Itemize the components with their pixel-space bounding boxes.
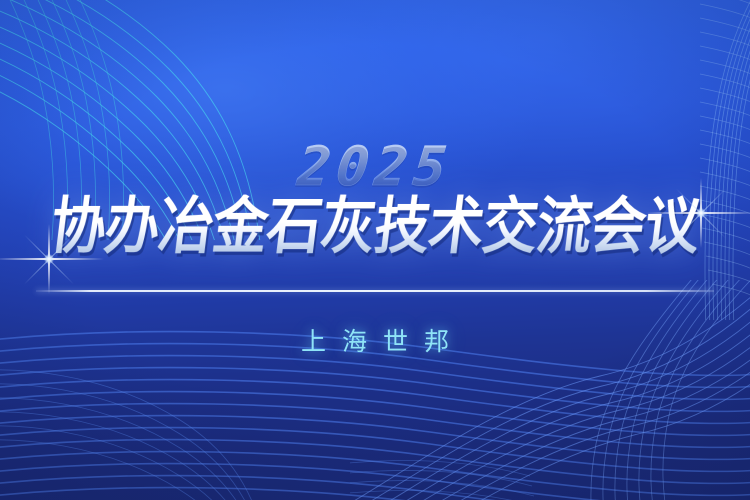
conference-banner: 2025 协办冶金石灰技术交流会议 上海世邦 [0, 0, 750, 500]
bottom-left-arc-lines [0, 350, 270, 500]
bottom-right-ribbon-lines [350, 280, 750, 500]
organization-subtitle: 上海世邦 [0, 322, 750, 358]
title-divider [36, 290, 714, 292]
title-block: 2025 协办冶金石灰技术交流会议 [0, 140, 750, 256]
page-title: 协办冶金石灰技术交流会议 [47, 195, 703, 260]
year-label: 2025 [295, 140, 455, 194]
